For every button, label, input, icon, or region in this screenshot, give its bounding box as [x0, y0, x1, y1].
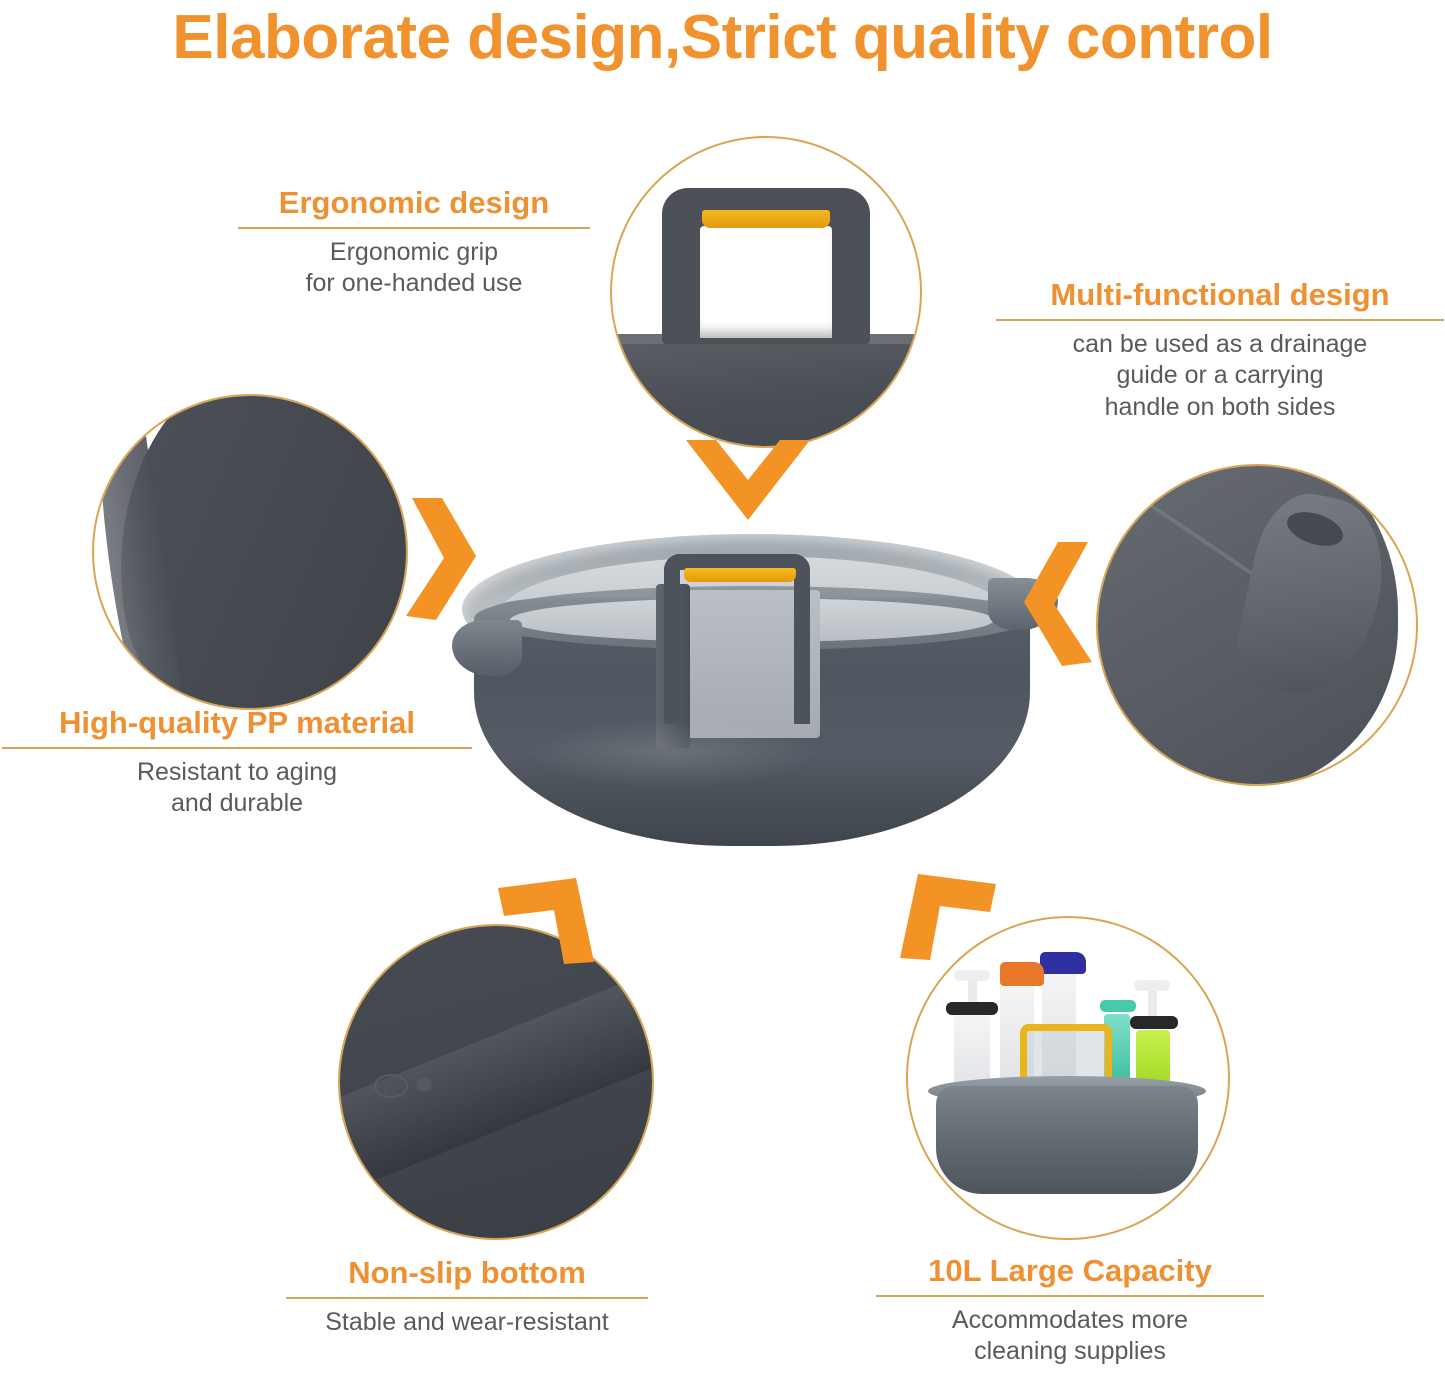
- inset-handle-closeup: [612, 138, 920, 446]
- handle-grip-photo: [612, 138, 920, 446]
- callout-divider: [2, 747, 472, 749]
- callout-ergonomic: Ergonomic design Ergonomic grip for one-…: [238, 186, 590, 300]
- inset-filled-caddy-closeup: [908, 918, 1228, 1238]
- pump-stem-right: [1148, 988, 1157, 1018]
- callout-sub-line-2: and durable: [2, 788, 472, 820]
- mold-ring-mark: [374, 1074, 408, 1098]
- callout-sub-line-3: handle on both sides: [996, 392, 1444, 424]
- product-hero-image: [452, 528, 1052, 878]
- pump-cap-right: [1134, 980, 1170, 991]
- callout-sub-line-1: can be used as a drainage: [996, 329, 1444, 361]
- callout-sub-line-1: Resistant to aging: [2, 757, 472, 789]
- callout-divider: [996, 319, 1444, 321]
- chevron-right-icon: [400, 498, 478, 620]
- spray-trigger-blue: [1040, 952, 1086, 974]
- spray-trigger-orange: [1000, 962, 1044, 986]
- callout-pp-material: High-quality PP material Resistant to ag…: [2, 706, 472, 820]
- chevron-up-right-icon: [498, 866, 608, 966]
- callout-sub-line-2: for one-handed use: [238, 268, 590, 300]
- callout-multi-functional: Multi-functional design can be used as a…: [996, 278, 1444, 423]
- bucket-bottom-photo: [340, 926, 652, 1238]
- callout-sub-line-1: Accommodates more: [876, 1305, 1264, 1337]
- callout-sub-line-1: Ergonomic grip: [238, 237, 590, 269]
- callout-heading: High-quality PP material: [2, 706, 472, 741]
- chevron-left-icon: [1020, 542, 1100, 666]
- pump-collar-left: [946, 1002, 998, 1015]
- caddy-with-supplies-photo: [908, 918, 1228, 1238]
- callout-heading: Multi-functional design: [996, 278, 1444, 313]
- drainage-lip-photo: [1098, 466, 1416, 784]
- pump-cap-left: [954, 970, 990, 981]
- caddy-wall-shape: [612, 334, 920, 446]
- caddy-left-pour-ear: [452, 620, 522, 676]
- plastic-edge-photo: [94, 396, 406, 708]
- callout-non-slip: Non-slip bottom Stable and wear-resistan…: [286, 1256, 648, 1338]
- callout-heading: Ergonomic design: [238, 186, 590, 221]
- callout-sub-line-1: Stable and wear-resistant: [286, 1307, 648, 1339]
- callout-divider: [238, 227, 590, 229]
- chevron-up-left-icon: [884, 862, 996, 964]
- callout-heading: Non-slip bottom: [286, 1256, 648, 1291]
- pump-collar-right: [1130, 1016, 1178, 1029]
- callout-capacity: 10L Large Capacity Accommodates more cle…: [876, 1254, 1264, 1368]
- handle-opening-shape: [700, 226, 832, 338]
- caddy-body-sheen: [522, 718, 822, 788]
- infographic-canvas: Elaborate design,Strict quality control: [0, 0, 1445, 1393]
- callout-divider: [286, 1297, 648, 1299]
- inset-pp-material-closeup: [94, 396, 406, 708]
- callout-sub-line-2: guide or a carrying: [996, 360, 1444, 392]
- page-title: Elaborate design,Strict quality control: [0, 2, 1445, 73]
- mold-nub-mark: [416, 1078, 432, 1091]
- chevron-down-icon: [686, 440, 810, 526]
- teal-bottle-cap: [1100, 1000, 1136, 1012]
- inset-non-slip-bottom-closeup: [340, 926, 652, 1238]
- caddy-tub-shape: [936, 1086, 1198, 1194]
- caddy-handle-yellow-grip: [684, 568, 796, 582]
- yellow-grip-strip: [702, 210, 830, 228]
- inset-drainage-edge-closeup: [1098, 466, 1416, 784]
- callout-divider: [876, 1295, 1264, 1297]
- callout-heading: 10L Large Capacity: [876, 1254, 1264, 1289]
- callout-sub-line-2: cleaning supplies: [876, 1336, 1264, 1368]
